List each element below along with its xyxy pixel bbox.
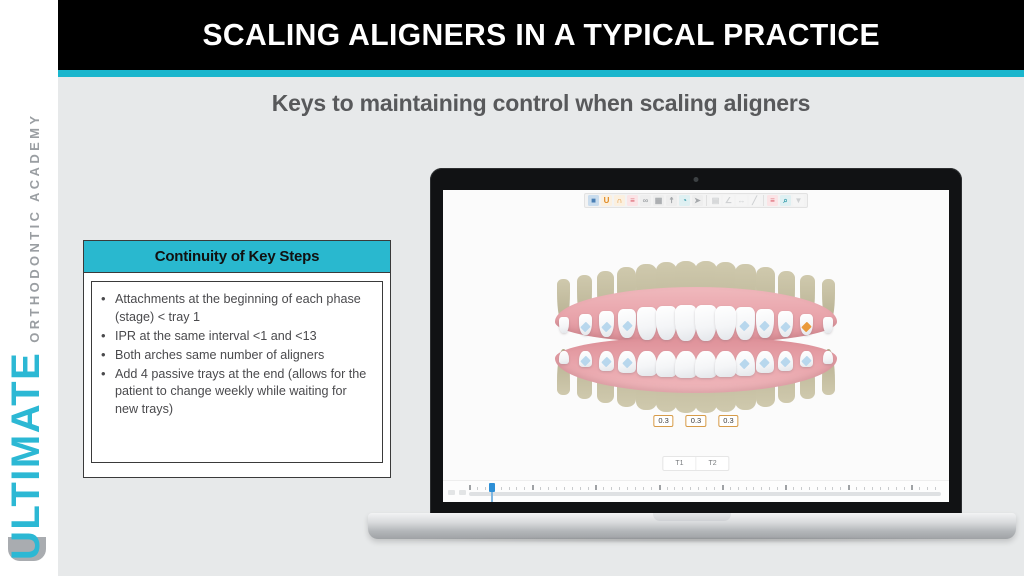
timeline-tick xyxy=(580,487,581,490)
timeline-bar[interactable] xyxy=(443,480,949,502)
staging-icon[interactable]: ◔ xyxy=(679,195,690,206)
lower-arch-icon[interactable]: ∩ xyxy=(614,195,625,206)
timeline-tick xyxy=(769,487,770,490)
timeline-tick xyxy=(904,487,905,490)
distance-icon[interactable]: ↔ xyxy=(736,195,747,206)
timeline-tick xyxy=(532,485,534,490)
stage-button-t1[interactable]: T1 xyxy=(663,457,696,470)
angle-icon[interactable]: ∠ xyxy=(723,195,734,206)
lower-tooth[interactable] xyxy=(637,351,657,376)
timeline-tick xyxy=(809,487,810,490)
key-steps-header: Continuity of Key Steps xyxy=(83,240,391,273)
software-toolbar[interactable]: ■U∩≡∞▦☨◔➤▤∠↔╱≡⌕▼ xyxy=(584,193,808,208)
timeline-tick xyxy=(911,485,913,490)
lower-tooth[interactable] xyxy=(656,351,677,377)
timeline-tick xyxy=(682,487,683,490)
timeline-track[interactable] xyxy=(469,492,941,496)
toolbar-separator xyxy=(763,195,764,206)
list-item: Add 4 passive trays at the end (allows f… xyxy=(98,366,372,420)
timeline-tick xyxy=(627,487,628,490)
lower-tooth[interactable] xyxy=(695,351,717,378)
cursor-icon[interactable]: ➤ xyxy=(692,195,703,206)
webcam-icon xyxy=(694,177,699,182)
timeline-tick xyxy=(738,487,739,490)
brand-name: ULTIMATE xyxy=(6,352,46,560)
timeline-tick xyxy=(730,487,731,490)
timeline-tick xyxy=(659,485,661,490)
timeline-tick xyxy=(548,487,549,490)
timeline-tick xyxy=(611,487,612,490)
timeline-tick xyxy=(524,487,525,490)
toolbar-separator xyxy=(706,195,707,206)
timeline-tick xyxy=(643,487,644,490)
timeline-tick xyxy=(540,487,541,490)
upper-tooth[interactable] xyxy=(637,307,657,339)
timeline-tick xyxy=(888,487,889,490)
timeline-tick xyxy=(856,487,857,490)
occlusion-icon[interactable]: ≡ xyxy=(627,195,638,206)
brand-rail: ULTIMATE ORTHODONTIC ACADEMY xyxy=(0,0,58,576)
upper-tooth[interactable] xyxy=(715,306,736,341)
timeline-tick xyxy=(840,487,841,490)
page-title: SCALING ALIGNERS IN A TYPICAL PRACTICE xyxy=(202,17,879,53)
timeline-tick xyxy=(801,487,802,490)
timeline-tick xyxy=(864,487,865,490)
timeline-tick xyxy=(761,487,762,490)
timeline-tick xyxy=(706,487,707,490)
key-steps-list: Attachments at the beginning of each pha… xyxy=(98,291,372,419)
timeline-tick xyxy=(572,487,573,490)
timeline-tick xyxy=(619,487,620,490)
timeline-tick xyxy=(777,487,778,490)
ipr-value-label[interactable]: 0.3 xyxy=(653,415,673,427)
list-item: Attachments at the beginning of each pha… xyxy=(98,291,372,327)
upper-tooth[interactable] xyxy=(695,305,717,341)
timeline-tick xyxy=(588,487,589,490)
curve-icon[interactable]: ╱ xyxy=(749,195,760,206)
stage-button-t2[interactable]: T2 xyxy=(697,457,729,470)
timeline-tick xyxy=(753,487,754,490)
timeline-tick xyxy=(556,487,557,490)
timeline-tick xyxy=(848,485,850,490)
lower-tooth[interactable] xyxy=(715,351,736,377)
play-button-icon[interactable] xyxy=(448,490,455,495)
slide-subtitle: Keys to maintaining control when scaling… xyxy=(58,90,1024,117)
dental-model-viewport[interactable] xyxy=(551,245,841,425)
key-steps-header-label: Continuity of Key Steps xyxy=(155,248,320,265)
timeline-tick xyxy=(564,487,565,490)
list-item: Both arches same number of aligners xyxy=(98,347,372,365)
ipr-icon[interactable]: ≡ xyxy=(767,195,778,206)
timeline-playback-controls[interactable] xyxy=(448,490,466,495)
ipr-value-label[interactable]: 0.3 xyxy=(686,415,706,427)
timeline-tick xyxy=(817,487,818,490)
timeline-tick xyxy=(872,487,873,490)
timeline-tick xyxy=(785,485,787,490)
laptop-mockup: ■U∩≡∞▦☨◔➤▤∠↔╱≡⌕▼ 0.30.30.3 T1T2 xyxy=(368,168,1016,558)
laptop-screen: ■U∩≡∞▦☨◔➤▤∠↔╱≡⌕▼ 0.30.30.3 T1T2 xyxy=(443,190,949,502)
timeline-tick xyxy=(485,487,486,490)
timeline-tick xyxy=(746,487,747,490)
timeline-tick xyxy=(501,487,502,490)
stage-selector[interactable]: T1T2 xyxy=(662,456,729,471)
slide-title-bar: SCALING ALIGNERS IN A TYPICAL PRACTICE xyxy=(58,0,1024,70)
lower-tooth[interactable] xyxy=(559,351,569,364)
timeline-tick xyxy=(896,487,897,490)
timeline-tick xyxy=(595,485,597,490)
timeline-tick xyxy=(832,487,833,490)
presentation-slide: ULTIMATE ORTHODONTIC ACADEMY SCALING ALI… xyxy=(0,0,1024,576)
superimposition-icon[interactable]: ∞ xyxy=(640,195,651,206)
timeline-tick xyxy=(935,487,936,490)
timeline-tick xyxy=(714,487,715,490)
timeline-tick xyxy=(722,485,724,490)
timeline-tick xyxy=(667,487,668,490)
grid-icon[interactable]: ▦ xyxy=(653,195,664,206)
timeline-tick xyxy=(516,487,517,490)
timeline-tick xyxy=(825,487,826,490)
timeline-tick xyxy=(477,487,478,490)
key-steps-body: Attachments at the beginning of each pha… xyxy=(83,273,391,478)
timeline-tick xyxy=(880,487,881,490)
title-accent-bar xyxy=(58,70,1024,77)
laptop-base xyxy=(368,513,1016,539)
upper-tooth[interactable] xyxy=(559,317,569,333)
key-steps-inner-frame: Attachments at the beginning of each pha… xyxy=(91,281,383,463)
key-steps-card: Continuity of Key Steps Attachments at t… xyxy=(83,240,391,478)
timeline-tick xyxy=(927,487,928,490)
timeline-tick xyxy=(919,487,920,490)
brand-tagline: ORTHODONTIC ACADEMY xyxy=(28,113,41,343)
brand-rail-inner: ULTIMATE ORTHODONTIC ACADEMY xyxy=(0,0,58,576)
laptop-lid: ■U∩≡∞▦☨◔➤▤∠↔╱≡⌕▼ 0.30.30.3 T1T2 xyxy=(430,168,962,517)
ipr-value-label[interactable]: 0.3 xyxy=(718,415,738,427)
ruler-icon[interactable]: ▤ xyxy=(710,195,721,206)
timeline-tick xyxy=(793,487,794,490)
timeline-tick xyxy=(698,487,699,490)
timeline-tick xyxy=(603,487,604,490)
upper-tooth[interactable] xyxy=(823,317,833,333)
chevron-down-icon[interactable]: ▼ xyxy=(793,195,804,206)
timeline-tick xyxy=(690,487,691,490)
brand-logo: ULTIMATE ORTHODONTIC ACADEMY xyxy=(6,113,46,560)
timeline-handle[interactable] xyxy=(489,483,495,492)
timeline-ticks xyxy=(469,485,941,491)
laptop-shadow xyxy=(374,537,1010,543)
lower-tooth[interactable] xyxy=(675,351,697,378)
select-tool-icon[interactable]: ■ xyxy=(588,195,599,206)
list-item: IPR at the same interval <1 and <13 xyxy=(98,328,372,346)
timeline-tick xyxy=(509,487,510,490)
timeline-tick xyxy=(635,487,636,490)
timeline-tick xyxy=(651,487,652,490)
laptop-base-notch xyxy=(653,513,731,521)
timeline-tick xyxy=(469,485,471,490)
pause-button-icon[interactable] xyxy=(459,490,466,495)
lower-tooth[interactable] xyxy=(823,351,833,364)
tooth-movement-icon[interactable]: ☨ xyxy=(666,195,677,206)
upper-arch-icon[interactable]: U xyxy=(601,195,612,206)
zoom-icon[interactable]: ⌕ xyxy=(780,195,791,206)
timeline-tick xyxy=(674,487,675,490)
ipr-label-row: 0.30.30.3 xyxy=(653,415,738,427)
